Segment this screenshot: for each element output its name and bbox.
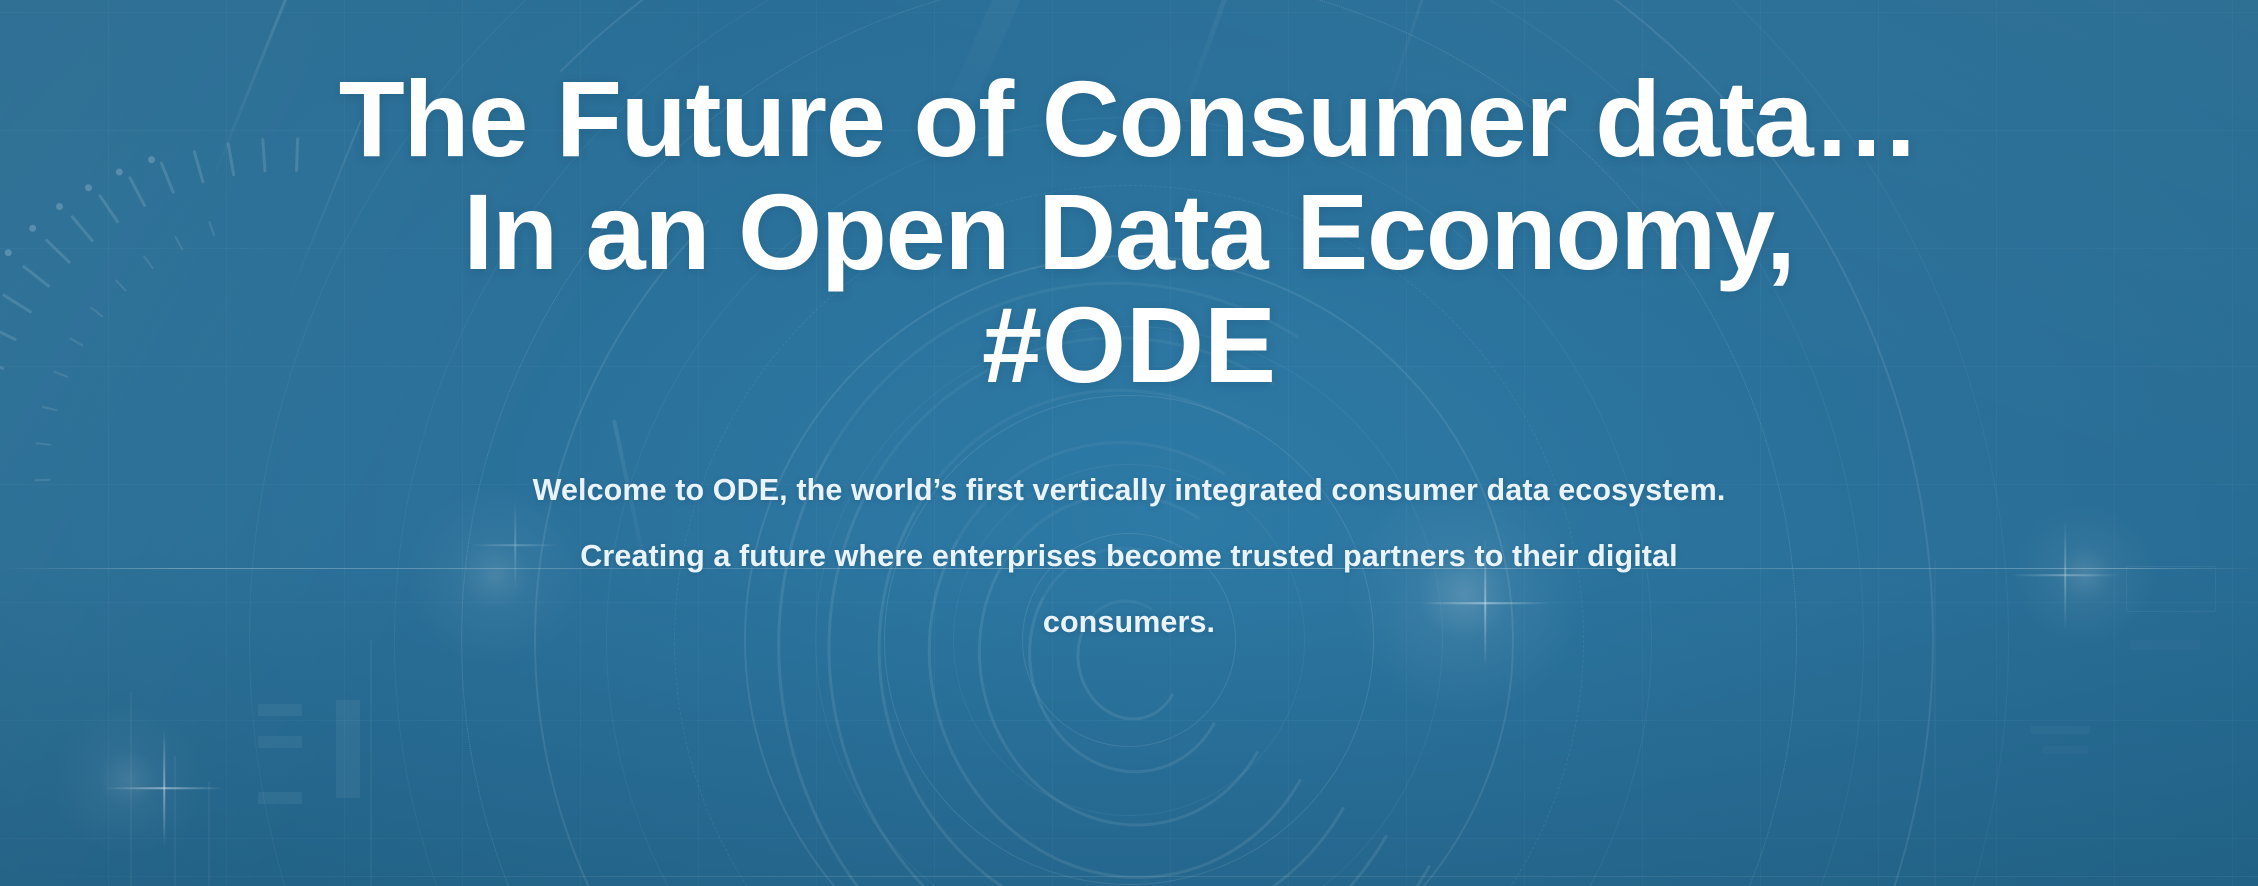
hero-subtitle: Welcome to ODE, the world’s first vertic… <box>264 457 1994 655</box>
hero-content: The Future of Consumer data… In an Open … <box>0 0 2258 886</box>
subtitle-line-1: Welcome to ODE, the world’s first vertic… <box>264 457 1994 523</box>
headline-line-1: The Future of Consumer data… <box>31 62 2227 175</box>
hero-banner: The Future of Consumer data… In an Open … <box>0 0 2258 886</box>
subtitle-line-2: Creating a future where enterprises beco… <box>264 523 1994 589</box>
headline-line-3: #ODE <box>31 288 2227 401</box>
subtitle-line-3: consumers. <box>264 589 1994 655</box>
headline-line-2: In an Open Data Economy, <box>31 175 2227 288</box>
page-title: The Future of Consumer data… In an Open … <box>31 62 2227 401</box>
